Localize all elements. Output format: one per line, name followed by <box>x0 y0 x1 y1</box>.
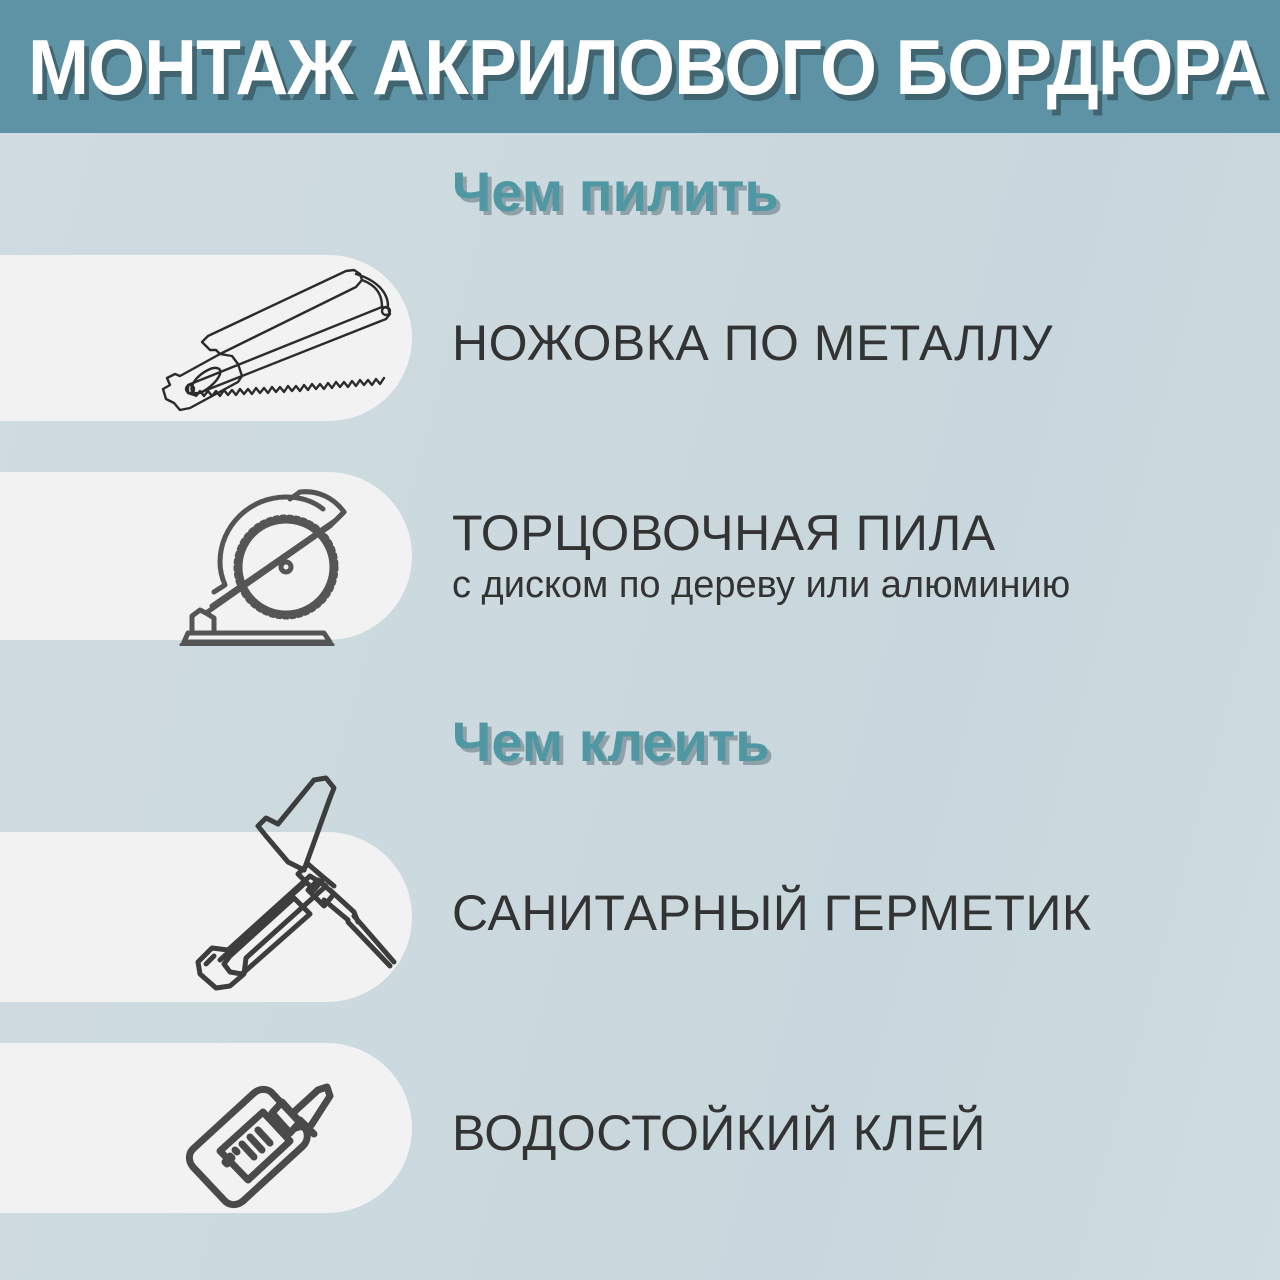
section-heading-cutting: Чем пилить <box>452 162 779 222</box>
item-label-glue: ВОДОСТОЙКИЙ КЛЕЙ <box>452 1105 986 1161</box>
infographic-page: МОНТАЖ АКРИЛОВОГО БОРДЮРА Чем пилить НОЖ… <box>0 0 1280 1280</box>
item-label-hacksaw: НОЖОВКА ПО МЕТАЛЛУ <box>452 315 1053 371</box>
item-label-miter-saw: ТОРЦОВОЧНАЯ ПИЛА <box>452 505 996 561</box>
item-pill-sealant <box>0 832 412 1002</box>
page-title: МОНТАЖ АКРИЛОВОГО БОРДЮРА <box>28 26 1266 108</box>
section-heading-gluing: Чем клеить <box>452 712 770 772</box>
header-bar: МОНТАЖ АКРИЛОВОГО БОРДЮРА <box>0 0 1280 133</box>
item-pill-glue <box>0 1043 412 1213</box>
item-label-sealant: САНИТАРНЫЙ ГЕРМЕТИК <box>452 885 1092 941</box>
item-sublabel-miter-saw: с диском по дереву или алюминию <box>452 563 1070 607</box>
item-pill-hacksaw <box>0 255 412 421</box>
item-pill-miter-saw <box>0 472 412 640</box>
